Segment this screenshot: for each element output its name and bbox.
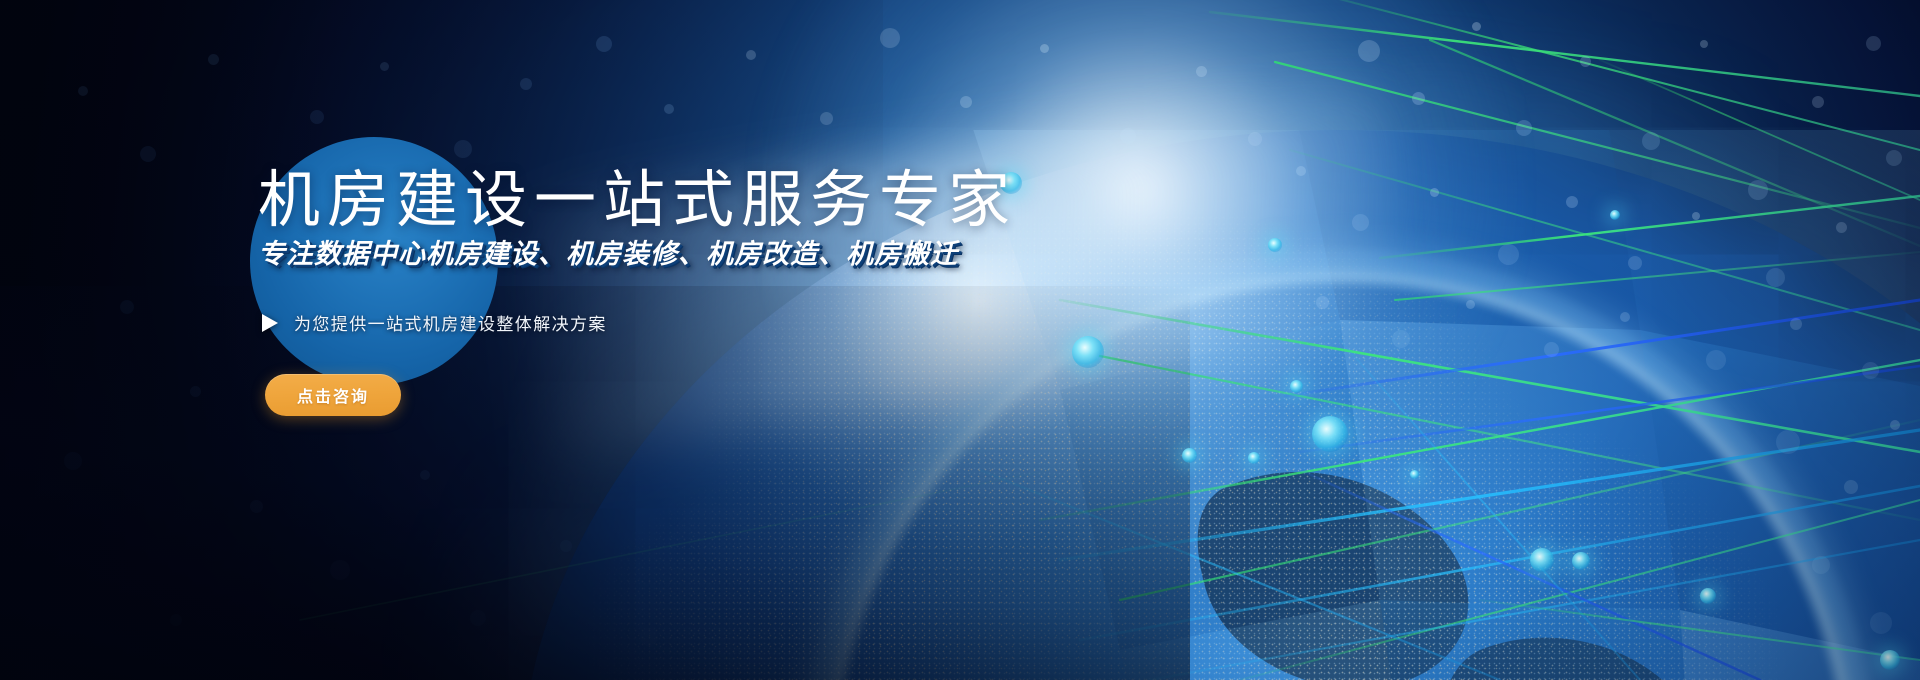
consult-button[interactable]: 点击咨询	[265, 374, 401, 416]
hero-tagline: 为您提供一站式机房建设整体解决方案	[262, 310, 607, 335]
hero-tagline-text: 为您提供一站式机房建设整体解决方案	[294, 310, 607, 335]
hero-content: 机房建设一站式服务专家 专注数据中心机房建设、机房装修、机房改造、机房搬迁 为您…	[0, 0, 1920, 680]
page-title: 机房建设一站式服务专家	[258, 162, 1017, 240]
hero-subtitle: 专注数据中心机房建设、机房装修、机房改造、机房搬迁	[258, 235, 958, 273]
play-triangle-icon	[262, 314, 278, 332]
hero-banner: 机房建设一站式服务专家 专注数据中心机房建设、机房装修、机房改造、机房搬迁 为您…	[0, 0, 1920, 680]
